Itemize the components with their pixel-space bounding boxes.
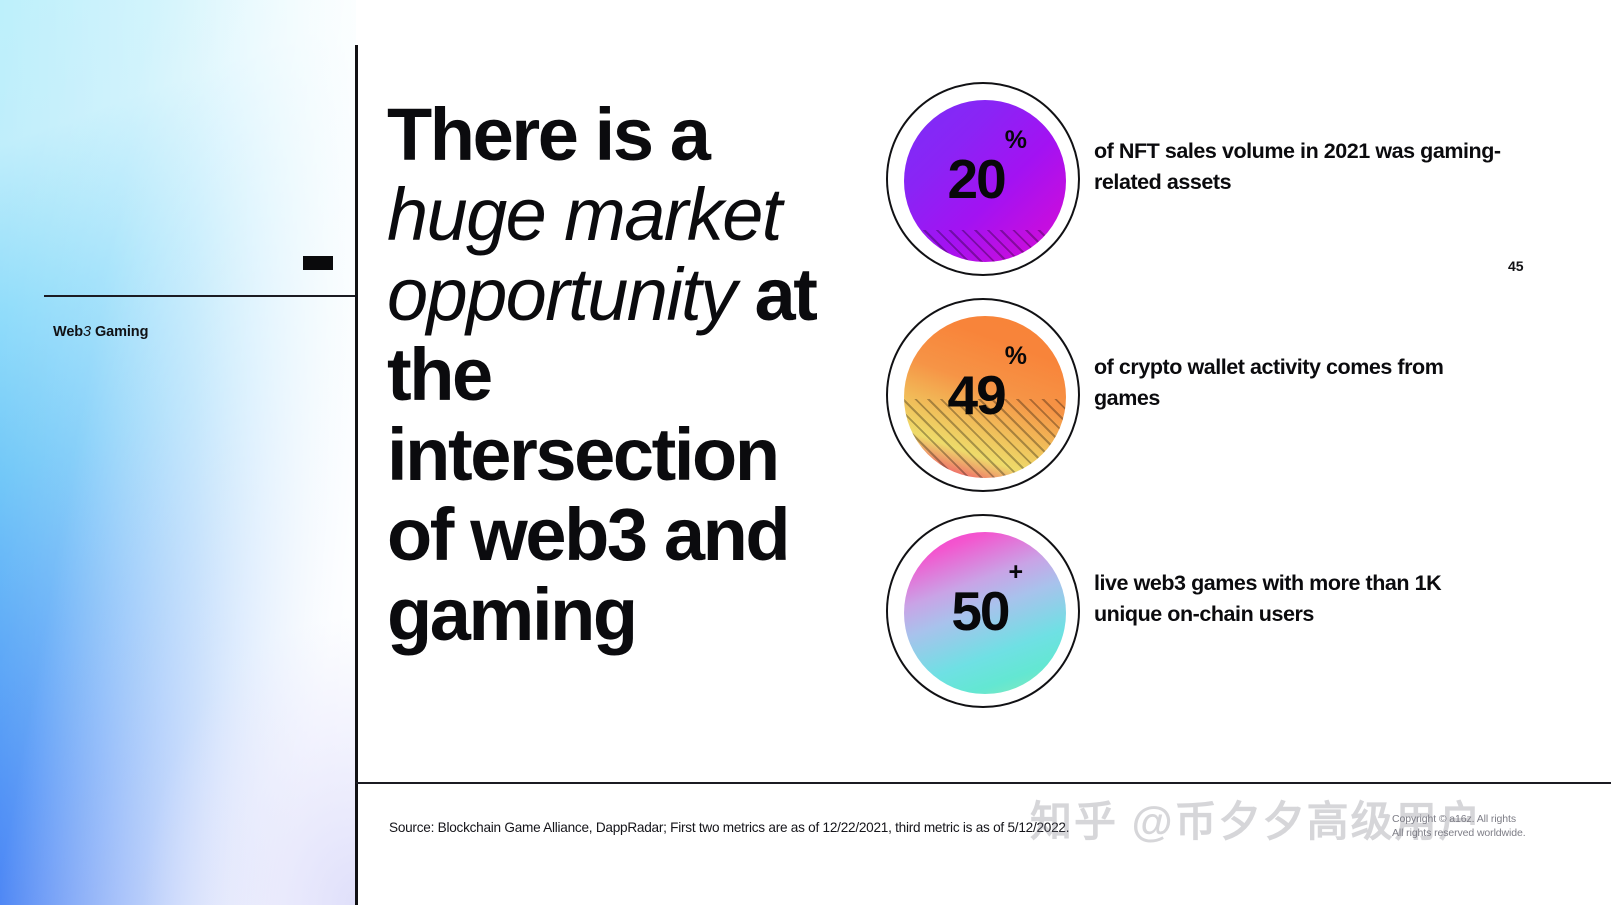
left-horizontal-rule xyxy=(44,295,356,297)
list-item: 49% of crypto wallet activity comes from… xyxy=(886,298,1506,514)
page-number: 45 xyxy=(1508,258,1524,274)
headline-part-1: There is a xyxy=(387,93,709,176)
source-note: Source: Blockchain Game Alliance, DappRa… xyxy=(389,820,1069,835)
slide-canvas: Web3 Gaming There is a huge market oppor… xyxy=(0,0,1611,905)
stat-number: 50 xyxy=(951,579,1008,643)
stat-description: of crypto wallet activity comes from gam… xyxy=(1094,352,1514,414)
gradient-lavender-glow xyxy=(120,520,356,905)
stat-number: 20 xyxy=(948,147,1005,211)
copyright-line-2: All rights reserved worldwide. xyxy=(1392,826,1602,840)
stat-list: 20% of NFT sales volume in 2021 was gami… xyxy=(886,82,1506,730)
list-item: 50+ live web3 games with more than 1K un… xyxy=(886,514,1506,730)
eyebrow-text-web: Web xyxy=(53,324,83,340)
stat-suffix: % xyxy=(1005,126,1027,155)
stat-description: live web3 games with more than 1K unique… xyxy=(1094,568,1514,630)
eyebrow-text-gaming: Gaming xyxy=(91,324,148,340)
page-title: There is a huge market opportunity at th… xyxy=(387,95,817,655)
list-item: 20% of NFT sales volume in 2021 was gami… xyxy=(886,82,1506,298)
section-eyebrow-label: Web3 Gaming xyxy=(53,324,148,340)
stat-value: 20% xyxy=(886,82,1080,276)
stat-number: 49 xyxy=(948,363,1005,427)
stat-value: 49% xyxy=(886,298,1080,492)
vertical-divider-rule xyxy=(355,45,358,905)
copyright-note: Copyright © a16z. All rights All rights … xyxy=(1392,812,1602,840)
footer-horizontal-rule xyxy=(356,782,1611,784)
stat-suffix: % xyxy=(1005,342,1027,371)
headline-emphasis: huge market opportunity xyxy=(387,173,781,336)
copyright-line-1: Copyright © a16z. All rights xyxy=(1392,812,1602,826)
stat-suffix: + xyxy=(1009,558,1023,587)
eyebrow-text-three: 3 xyxy=(83,324,91,340)
stat-description: of NFT sales volume in 2021 was gaming-r… xyxy=(1094,136,1514,198)
stat-value: 50+ xyxy=(886,514,1080,708)
minus-icon xyxy=(303,256,333,270)
